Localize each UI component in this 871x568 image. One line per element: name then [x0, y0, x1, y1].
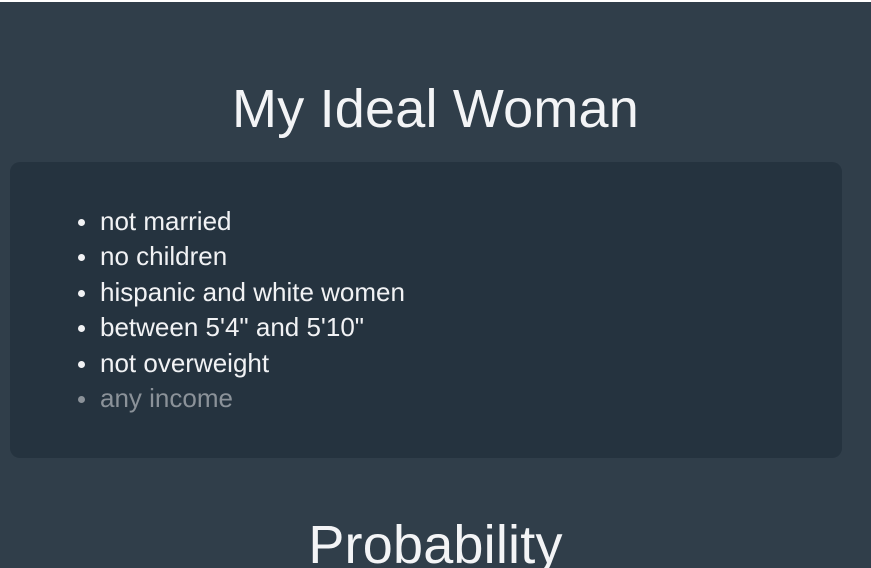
list-item: any income — [70, 381, 842, 416]
bullet-icon — [78, 254, 85, 261]
bullet-icon — [78, 396, 85, 403]
bullet-icon — [78, 290, 85, 297]
list-item: no children — [70, 239, 842, 274]
page-title: My Ideal Woman — [0, 80, 871, 139]
list-item-label: hispanic and white women — [100, 277, 405, 307]
list-item-label: any income — [100, 383, 233, 413]
criteria-card: not married no children hispanic and whi… — [10, 162, 842, 458]
top-accent-strip — [0, 0, 871, 2]
list-item-label: between 5'4" and 5'10" — [100, 312, 364, 342]
list-item-label: not overweight — [100, 348, 269, 378]
bullet-icon — [78, 219, 85, 226]
bullet-icon — [78, 361, 85, 368]
list-item: hispanic and white women — [70, 275, 842, 310]
list-item: not overweight — [70, 346, 842, 381]
bullet-icon — [78, 325, 85, 332]
list-item: between 5'4" and 5'10" — [70, 310, 842, 345]
list-item: not married — [70, 204, 842, 239]
criteria-list: not married no children hispanic and whi… — [10, 162, 842, 416]
presentation-slide: My Ideal Woman not married no children h… — [0, 0, 871, 568]
list-item-label: not married — [100, 206, 232, 236]
section-heading-probability: Probability — [0, 516, 871, 568]
list-item-label: no children — [100, 241, 227, 271]
